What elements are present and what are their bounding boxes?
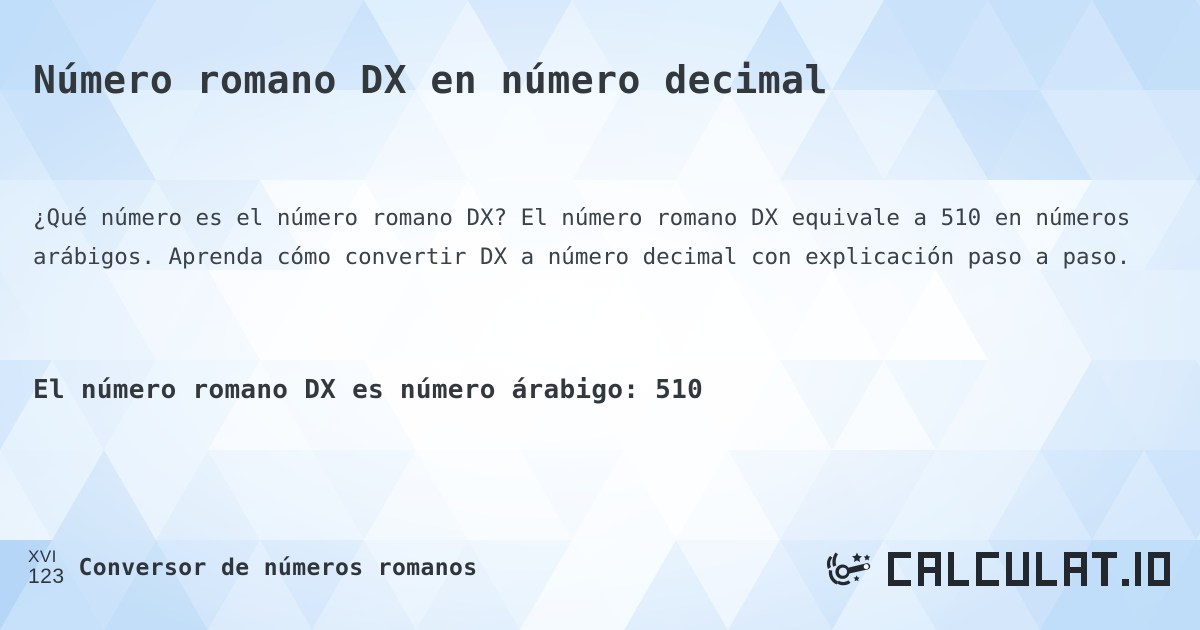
intro-paragraph: ¿Qué número es el número romano DX? El n… — [33, 199, 1148, 277]
roman-arabic-logo-icon: XVI 123 — [28, 548, 65, 587]
result-statement: El número romano DX es número árabigo: 5… — [33, 373, 1153, 407]
footer-brand-right[interactable]: CALCULAT.IO — [824, 550, 1170, 588]
footer-brand-left[interactable]: XVI 123 Conversor de números romanos — [28, 548, 477, 587]
calculatio-wordmark: CALCULAT.IO — [888, 552, 1170, 586]
page-title: Número romano DX en número decimal — [33, 57, 1173, 103]
logo-arabic-text: 123 — [28, 566, 65, 587]
og-image-card: Número romano DX en número decimal ¿Qué … — [0, 0, 1200, 630]
footer-section-label: Conversor de números romanos — [79, 555, 478, 581]
logo-roman-text: XVI — [28, 548, 65, 565]
footer: XVI 123 Conversor de números romanos — [0, 540, 1200, 610]
magic-wand-hand-icon — [824, 550, 882, 588]
